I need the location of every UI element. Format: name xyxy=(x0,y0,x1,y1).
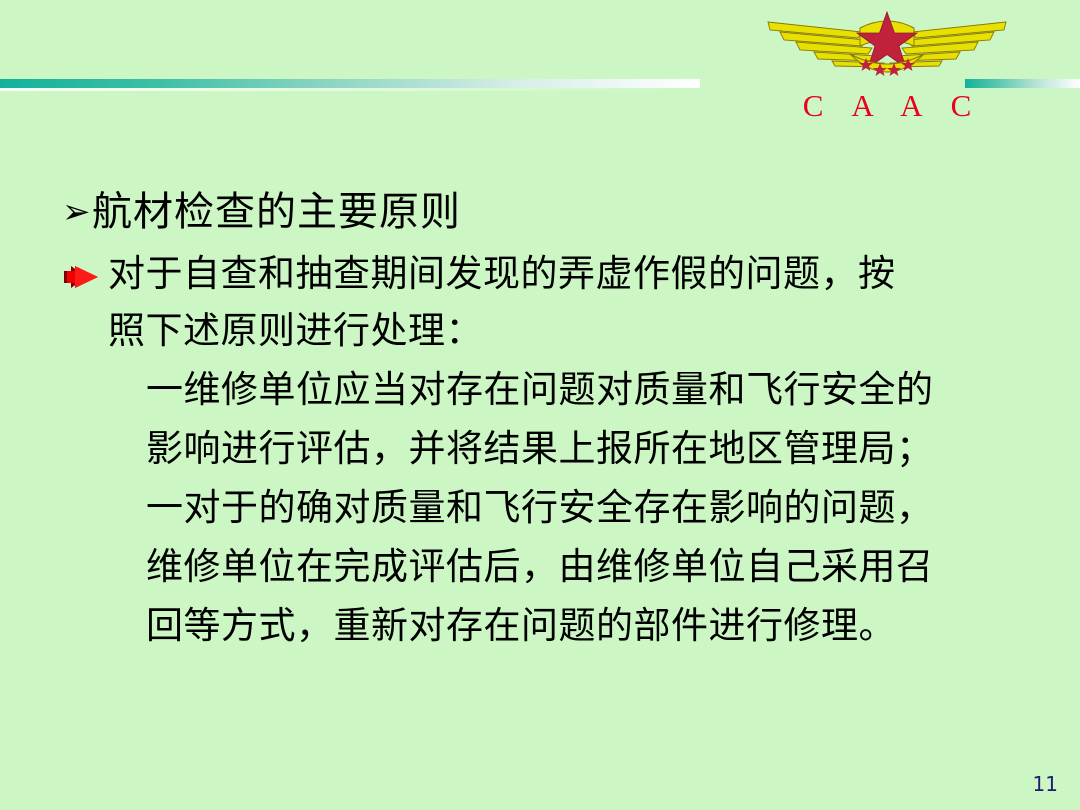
caac-logo-block: C A A C xyxy=(752,6,1022,136)
paragraph-line: 一维修单位应当对存在问题对质量和飞行安全的 xyxy=(108,360,1032,419)
header-divider-highlight xyxy=(0,88,700,91)
chevron-right-bullet-icon: ➢ xyxy=(62,186,92,238)
paragraph-line: 维修单位在完成评估后，由维修单位自己采用召 xyxy=(108,537,1032,596)
red-arrow-bullet-icon xyxy=(62,264,100,290)
paragraph-line: 对于自查和抽查期间发现的弄虚作假的问题，按 xyxy=(108,246,1032,301)
red-arrow-bullet-cell xyxy=(62,246,108,290)
paragraph-line: 影响进行评估，并将结果上报所在地区管理局； xyxy=(108,419,1032,478)
heading-row: ➢ 航材检查的主要原则 xyxy=(62,186,1032,238)
page-title: 航材检查的主要原则 xyxy=(92,186,461,238)
slide-content: ➢ 航材检查的主要原则 对于自查和抽查期间发现的弄虚作假的问题，按 照下述原则进… xyxy=(62,186,1032,655)
page-number: 11 xyxy=(1033,772,1058,796)
paragraph-line: 照下述原则进行处理： xyxy=(108,301,1032,360)
paragraph-body: 对于自查和抽查期间发现的弄虚作假的问题，按 照下述原则进行处理： 一维修单位应当… xyxy=(108,246,1032,655)
header-divider-right xyxy=(965,79,1080,88)
presentation-slide: C A A C ➢ 航材检查的主要原则 对于自查和抽查期间发现的弄虚作假的问题，… xyxy=(0,0,1080,810)
paragraph-line: 一对于的确对质量和飞行安全存在影响的问题， xyxy=(108,478,1032,537)
paragraph-row: 对于自查和抽查期间发现的弄虚作假的问题，按 照下述原则进行处理： 一维修单位应当… xyxy=(62,246,1032,655)
caac-abbreviation: C A A C xyxy=(752,90,1022,121)
header-divider-left xyxy=(0,79,700,88)
caac-emblem-icon xyxy=(762,6,1012,84)
paragraph-line: 回等方式，重新对存在问题的部件进行修理。 xyxy=(108,596,1032,655)
